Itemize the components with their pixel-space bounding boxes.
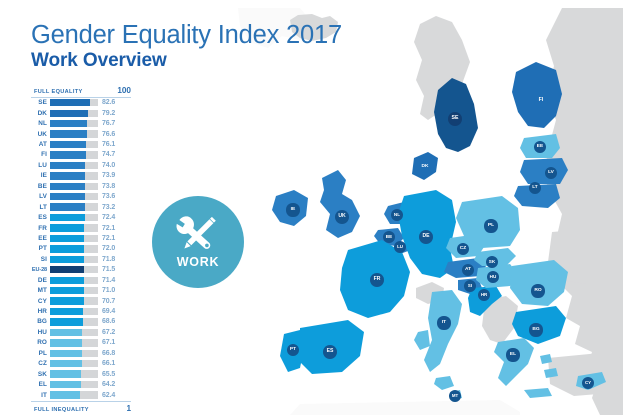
bar-value-label: 72.0 (98, 245, 131, 252)
title-block: Gender Equality Index 2017 Work Overview (31, 22, 342, 72)
bar-value-label: 73.9 (98, 172, 131, 179)
bar-fill (50, 203, 85, 210)
bar-track (50, 266, 98, 273)
bar-value-label: 72.4 (98, 214, 131, 221)
bar-fill (50, 151, 86, 158)
map-country-EL (494, 338, 534, 386)
bar-country-code: IE (31, 172, 50, 179)
work-domain-badge: WORK (152, 196, 244, 288)
bar-track (50, 162, 98, 169)
bar-track (50, 350, 98, 357)
bar-fill (50, 329, 82, 336)
infographic-root: SEFIDKEELVLTIEUKNLBELUDEFRPTESITATSIHRCZ… (0, 0, 623, 415)
bar-track (50, 235, 98, 242)
bar-row: PL66.8 (31, 349, 131, 359)
bar-country-code: DE (31, 277, 50, 284)
bar-track (50, 172, 98, 179)
bar-fill (50, 277, 84, 284)
bar-track (50, 224, 98, 231)
map-badge-uk: UK (335, 210, 349, 224)
bar-value-label: 74.7 (98, 151, 131, 158)
bar-track (50, 287, 98, 294)
bar-value-label: 70.7 (98, 298, 131, 305)
bar-fill (50, 120, 87, 127)
bar-country-code: ES (31, 214, 50, 221)
bar-fill (50, 287, 84, 294)
bar-fill (50, 193, 85, 200)
bar-country-code: SI (31, 256, 50, 263)
bar-track (50, 339, 98, 346)
bar-fill (50, 141, 86, 148)
bar-fill (50, 214, 85, 221)
bar-track (50, 318, 98, 325)
bar-fill (50, 318, 83, 325)
bar-fill (50, 172, 85, 179)
map-badge-it: IT (437, 316, 450, 329)
wrench-pencil-icon (175, 213, 221, 253)
bar-row: HR69.4 (31, 307, 131, 317)
bar-country-code: SK (31, 371, 50, 378)
bar-fill (50, 183, 85, 190)
bar-row: SK65.5 (31, 369, 131, 379)
map-badge-de: DE (419, 230, 433, 244)
map-country-turkey (548, 352, 623, 396)
bar-track (50, 308, 98, 315)
full-inequality-value: 1 (115, 404, 131, 413)
bar-value-label: 73.8 (98, 183, 131, 190)
bar-country-code: CY (31, 298, 50, 305)
bar-row: EU-2871.5 (31, 265, 131, 275)
bar-value-label: 65.5 (98, 371, 131, 378)
bar-country-code: SE (31, 99, 50, 106)
bar-country-code: EL (31, 381, 50, 388)
bar-fill (50, 224, 84, 231)
bar-row: FR72.1 (31, 223, 131, 233)
bar-track (50, 370, 98, 377)
bar-value-label: 79.2 (98, 110, 131, 117)
bar-row: BG68.6 (31, 317, 131, 327)
bar-track (50, 110, 98, 117)
bar-country-code: LV (31, 193, 50, 200)
bar-country-code: IT (31, 392, 50, 399)
map-country-northafrica (290, 400, 520, 415)
bar-fill (50, 297, 84, 304)
bar-track (50, 277, 98, 284)
bar-country-code: UK (31, 131, 50, 138)
bar-fill (50, 308, 83, 315)
map-country-EL-crete (524, 388, 552, 398)
map-country-LV (520, 158, 568, 184)
bar-value-label: 74.0 (98, 162, 131, 169)
page-subtitle: Work Overview (31, 51, 342, 72)
bar-row: AT76.1 (31, 140, 131, 150)
map-country-UK (320, 170, 360, 238)
bar-country-code: HR (31, 308, 50, 315)
map-badge-ro: RO (531, 284, 544, 297)
bar-value-label: 73.6 (98, 193, 131, 200)
map-badge-ie: IE (286, 203, 299, 216)
map-badge-pl: PL (484, 219, 497, 232)
map-badge-cy: CY (582, 377, 594, 389)
bar-value-label: 71.0 (98, 287, 131, 294)
map-country-IT-sicily (434, 376, 454, 390)
map-country-IT-sardinia (414, 330, 430, 350)
bar-value-label: 69.4 (98, 308, 131, 315)
bar-fill (50, 370, 81, 377)
bar-track (50, 381, 98, 388)
bar-country-code: AT (31, 141, 50, 148)
bar-row: LU74.0 (31, 161, 131, 171)
bar-country-code: CZ (31, 360, 50, 367)
bar-value-label: 67.2 (98, 329, 131, 336)
bar-country-code: HU (31, 329, 50, 336)
bar-country-code: MT (31, 287, 50, 294)
bar-fill (50, 360, 82, 367)
bar-row: BE73.8 (31, 182, 131, 192)
bar-track (50, 141, 98, 148)
bar-track (50, 214, 98, 221)
bar-country-code: BG (31, 318, 50, 325)
map-badge-el: EL (506, 348, 519, 361)
bar-row: EL64.2 (31, 380, 131, 390)
bar-track (50, 297, 98, 304)
bar-row: UK76.6 (31, 129, 131, 139)
bar-country-code: RO (31, 339, 50, 346)
bar-fill (50, 110, 88, 117)
bar-track (50, 151, 98, 158)
bar-row: IE73.9 (31, 171, 131, 181)
bar-value-label: 68.6 (98, 318, 131, 325)
bar-track (50, 391, 98, 398)
bar-value-label: 73.2 (98, 204, 131, 211)
bar-value-label: 76.7 (98, 120, 131, 127)
full-inequality-label: FULL INEQUALITY (34, 407, 89, 413)
bar-country-code: EE (31, 235, 50, 242)
bar-fill (50, 99, 90, 106)
bar-value-label: 71.5 (98, 266, 131, 273)
bar-country-code: LU (31, 162, 50, 169)
map-badge-mt: MT (449, 390, 461, 402)
bar-row: FI74.7 (31, 150, 131, 160)
bar-country-code: NL (31, 120, 50, 127)
bar-fill (50, 235, 84, 242)
bar-fill (50, 266, 84, 273)
bar-value-label: 72.1 (98, 225, 131, 232)
bar-row: CY70.7 (31, 296, 131, 306)
map-badge-bg: BG (529, 323, 542, 336)
bar-track (50, 329, 98, 336)
bar-value-label: 64.2 (98, 381, 131, 388)
bar-row: IT62.4 (31, 390, 131, 400)
work-badge-label: WORK (177, 255, 219, 269)
bar-country-code: EU-28 (31, 267, 50, 273)
bar-country-code: FI (31, 151, 50, 158)
bar-value-label: 62.4 (98, 392, 131, 399)
bar-value-label: 71.8 (98, 256, 131, 263)
bar-track (50, 245, 98, 252)
bar-row: SE82.6 (31, 98, 131, 108)
bar-country-code: FR (31, 225, 50, 232)
bar-track (50, 360, 98, 367)
bar-row: EE72.1 (31, 234, 131, 244)
bar-row: SI71.8 (31, 255, 131, 265)
bar-fill (50, 162, 85, 169)
bar-row: HU67.2 (31, 328, 131, 338)
ranking-bar-chart: FULL EQUALITY 100 SE82.6DK79.2NL76.7UK76… (31, 86, 131, 413)
bar-value-label: 82.6 (98, 99, 131, 106)
bar-fill (50, 391, 80, 398)
bar-row: DK79.2 (31, 108, 131, 118)
bar-country-code: BE (31, 183, 50, 190)
map-badge-fr: FR (370, 273, 384, 287)
bar-value-label: 71.4 (98, 277, 131, 284)
map-badge-es: ES (323, 345, 337, 359)
bar-row: RO67.1 (31, 338, 131, 348)
bar-row: LV73.6 (31, 192, 131, 202)
bar-fill (50, 245, 84, 252)
map-badge-lu: LU (394, 241, 406, 253)
bar-rows-container: SE82.6DK79.2NL76.7UK76.6AT76.1FI74.7LU74… (31, 98, 131, 400)
bar-fill (50, 256, 84, 263)
map-badge-si: SI (464, 280, 476, 292)
bar-track (50, 256, 98, 263)
bar-country-code: DK (31, 110, 50, 117)
bar-fill (50, 130, 87, 137)
bar-country-code: PT (31, 245, 50, 252)
bar-track (50, 130, 98, 137)
scale-top-legend: FULL EQUALITY 100 (31, 86, 131, 95)
bar-track (50, 99, 98, 106)
bar-value-label: 76.1 (98, 141, 131, 148)
scale-bottom-legend: FULL INEQUALITY 1 (31, 404, 131, 413)
bar-value-label: 67.1 (98, 339, 131, 346)
bar-row: ES72.4 (31, 213, 131, 223)
bar-fill (50, 381, 81, 388)
bar-track (50, 120, 98, 127)
bar-track (50, 203, 98, 210)
bar-value-label: 76.6 (98, 131, 131, 138)
bar-row: NL76.7 (31, 119, 131, 129)
bar-row: LT73.2 (31, 202, 131, 212)
bar-row: CZ66.1 (31, 359, 131, 369)
bar-value-label: 66.1 (98, 360, 131, 367)
bar-country-code: PL (31, 350, 50, 357)
bar-value-label: 66.8 (98, 350, 131, 357)
full-equality-label: FULL EQUALITY (34, 89, 83, 95)
bar-row: PT72.0 (31, 244, 131, 254)
bar-value-label: 72.1 (98, 235, 131, 242)
map-badge-hr: HR (478, 289, 490, 301)
bar-fill (50, 350, 82, 357)
bar-row: MT71.0 (31, 286, 131, 296)
full-equality-value: 100 (115, 86, 131, 95)
bar-track (50, 193, 98, 200)
bar-row: DE71.4 (31, 275, 131, 285)
bar-track (50, 183, 98, 190)
page-title: Gender Equality Index 2017 (31, 22, 342, 49)
bar-fill (50, 339, 82, 346)
bar-country-code: LT (31, 204, 50, 211)
map-country-RO (510, 260, 568, 306)
legend-divider-bottom (31, 401, 131, 402)
